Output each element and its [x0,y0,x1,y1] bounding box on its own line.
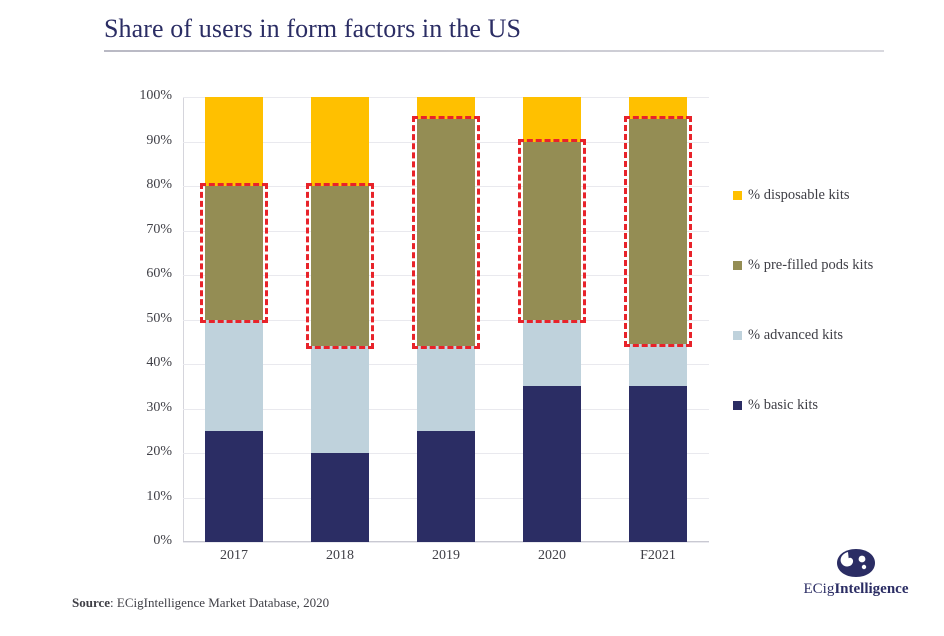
legend-item-disposable[interactable]: % disposable kits [733,186,938,204]
legend-swatch-disposable [733,191,742,200]
source-label: Source [72,595,110,610]
bar-segment-basic[interactable] [205,431,263,542]
vapor-swirl-icon [835,548,877,578]
bar-segment-pods[interactable] [311,186,369,346]
bar-segment-disposable[interactable] [311,97,369,186]
bar-segment-pods[interactable] [417,119,475,346]
bar-group[interactable] [205,97,263,542]
legend-swatch-basic [733,401,742,410]
source-text: : ECigIntelligence Market Database, 2020 [110,595,329,610]
ecigintelligence-logo: ECigIntelligence [782,548,930,598]
bar-segment-advanced[interactable] [311,346,369,453]
y-axis-tick-label: 80% [110,177,172,193]
chart-legend: % disposable kits% pre-filled pods kits%… [733,186,938,466]
bar-segment-basic[interactable] [523,386,581,542]
legend-label: % pre-filled pods kits [748,257,873,274]
title-block: Share of users in form factors in the US [104,14,904,52]
logo-text-bold: Intelligence [834,581,908,597]
legend-item-advanced[interactable]: % advanced kits [733,326,938,344]
bar-segment-basic[interactable] [629,386,687,542]
bar-segment-advanced[interactable] [417,346,475,431]
legend-swatch-advanced [733,331,742,340]
bar-segment-disposable[interactable] [417,97,475,119]
bar-group[interactable] [629,97,687,542]
bar-segment-advanced[interactable] [523,320,581,387]
y-axis-tick-label: 90% [110,133,172,149]
bar-group[interactable] [523,97,581,542]
bar-segment-disposable[interactable] [205,97,263,186]
legend-label: % basic kits [748,397,818,414]
bar-segment-pods[interactable] [629,119,687,344]
legend-label: % disposable kits [748,187,850,204]
legend-label: % advanced kits [748,327,843,344]
legend-item-basic[interactable]: % basic kits [733,396,938,414]
bar-segment-pods[interactable] [205,186,263,320]
legend-item-pods[interactable]: % pre-filled pods kits [733,256,938,274]
bar-segment-basic[interactable] [311,453,369,542]
source-note: Source: ECigIntelligence Market Database… [72,595,329,611]
y-axis-tick-label: 20% [110,444,172,460]
y-axis-tick-label: 50% [110,311,172,327]
y-axis-tick-label: 100% [110,88,172,104]
bar-segment-advanced[interactable] [205,320,263,431]
y-axis-tick-label: 70% [110,222,172,238]
logo-wordmark: ECigIntelligence [782,581,930,598]
bar-segment-disposable[interactable] [629,97,687,119]
x-axis-tick-label: 2020 [502,548,602,564]
y-axis-tick-label: 40% [110,355,172,371]
bar-segment-basic[interactable] [417,431,475,542]
x-axis-tick-label: 2017 [184,548,284,564]
gridline [183,542,709,543]
bar-group[interactable] [311,97,369,542]
x-axis-tick-label: 2019 [396,548,496,564]
x-axis-tick-label: F2021 [608,548,708,564]
chart-plot-area [183,97,709,542]
bar-segment-disposable[interactable] [523,97,581,142]
bar-segment-advanced[interactable] [629,344,687,386]
y-axis-tick-label: 10% [110,489,172,505]
logo-text-regular: ECig [804,581,835,597]
bar-segment-pods[interactable] [523,142,581,320]
y-axis-tick-label: 60% [110,266,172,282]
legend-swatch-pods [733,261,742,270]
y-axis-tick-label: 30% [110,400,172,416]
y-axis-tick-label: 0% [110,533,172,549]
bar-group[interactable] [417,97,475,542]
x-axis-tick-label: 2018 [290,548,390,564]
title-divider [104,50,884,52]
page-title: Share of users in form factors in the US [104,14,904,44]
